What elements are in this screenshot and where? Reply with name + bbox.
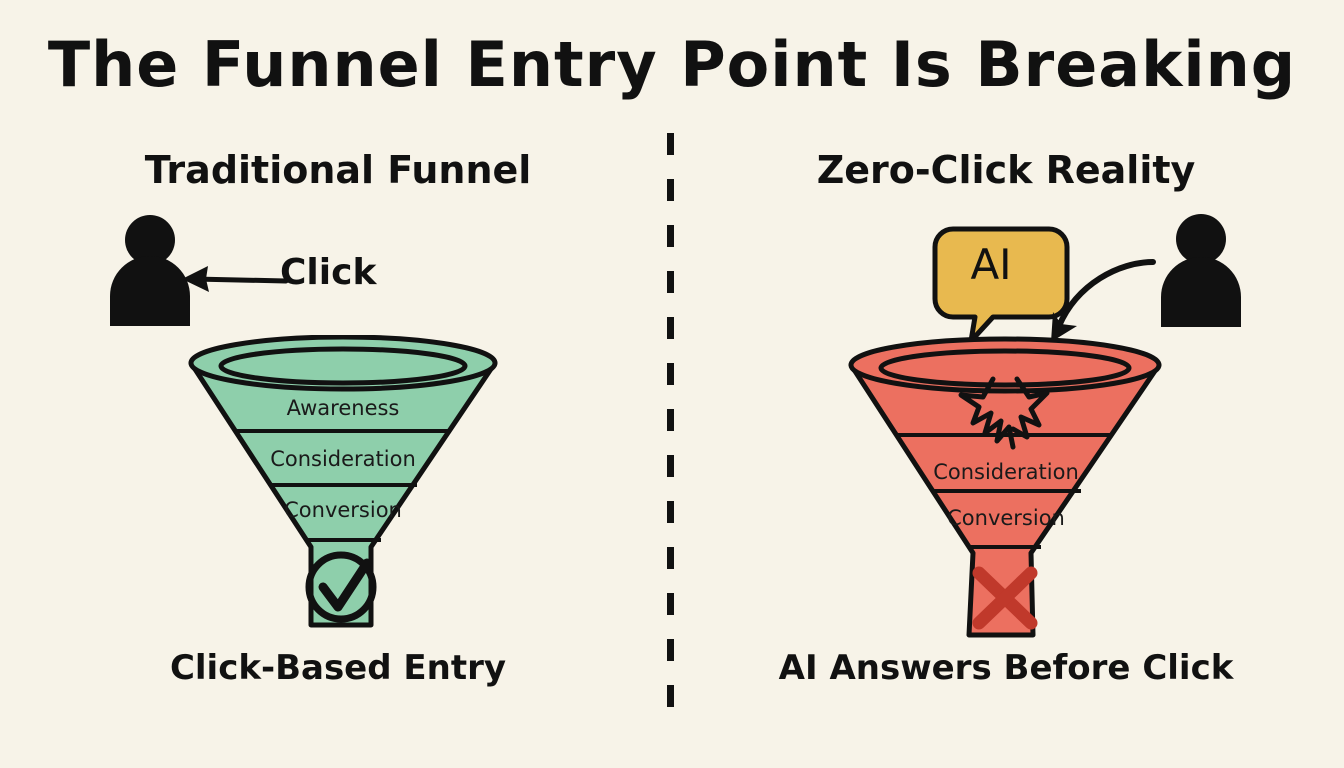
right-panel-caption: AI Answers Before Click	[676, 648, 1336, 688]
person-icon	[1151, 212, 1251, 327]
funnel-stage-label-consideration: Consideration	[183, 447, 503, 471]
funnel-stage-label-consideration: Consideration	[841, 460, 1171, 484]
page-title: The Funnel Entry Point Is Breaking	[0, 28, 1344, 101]
click-annotation-label: Click	[280, 252, 376, 293]
right-panel-heading: Zero-Click Reality	[676, 148, 1336, 192]
left-panel-heading: Traditional Funnel	[8, 148, 668, 192]
arrow-curved-down-left-icon	[1041, 250, 1161, 345]
arrow-left-icon	[178, 260, 288, 300]
funnel-traditional	[183, 335, 503, 635]
left-panel-caption: Click-Based Entry	[8, 648, 668, 688]
diagram-canvas: The Funnel Entry Point Is Breaking Tradi…	[0, 0, 1344, 768]
panel-zero-click-reality: Zero-Click Reality AI	[676, 130, 1336, 740]
funnel-stage-label-conversion: Conversion	[183, 498, 503, 522]
panel-divider	[667, 133, 674, 731]
funnel-stage-label-conversion: Conversion	[841, 506, 1171, 530]
funnel-stage-label-awareness: Awareness	[183, 396, 503, 420]
funnel-zero-click	[841, 335, 1171, 645]
panel-traditional-funnel: Traditional Funnel Click	[8, 130, 668, 740]
